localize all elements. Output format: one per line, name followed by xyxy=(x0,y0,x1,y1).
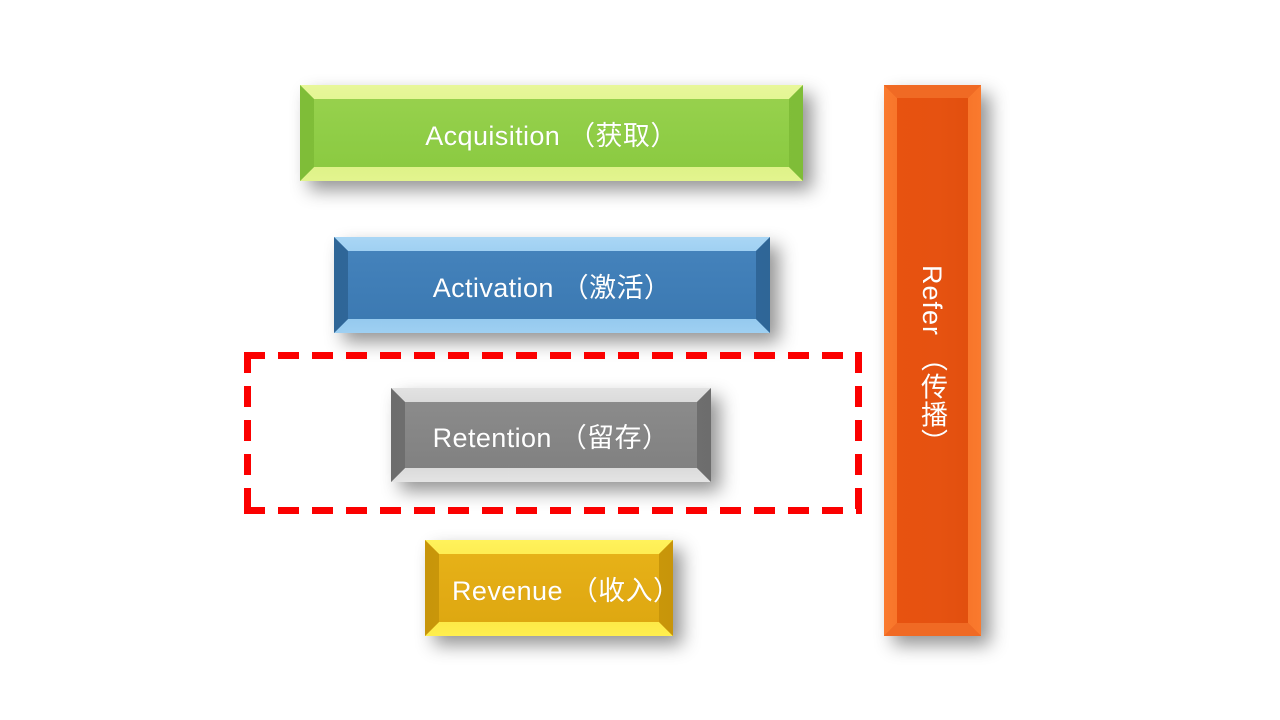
highlight-edge-right xyxy=(855,352,862,514)
stage-bar-refer[interactable]: Refer （传播） xyxy=(884,85,981,636)
stage-bar-acquisition[interactable]: Acquisition （获取） xyxy=(300,85,803,181)
stage-label-activation: Activation （激活） xyxy=(433,266,672,305)
stage-label-refer: Refer （传播） xyxy=(913,265,952,457)
stage-label-revenue: Revenue （收入） xyxy=(452,569,680,608)
stage-bar-activation[interactable]: Activation （激活） xyxy=(334,237,770,333)
stage-bar-revenue[interactable]: Revenue （收入） xyxy=(425,540,673,636)
stage-bar-retention[interactable]: Retention （留存） xyxy=(391,388,711,482)
highlight-edge-left xyxy=(244,352,251,514)
stage-label-retention: Retention （留存） xyxy=(433,416,670,455)
slide-canvas: Acquisition （获取） Activation （激活） Retenti… xyxy=(0,0,1280,720)
highlight-edge-top xyxy=(244,352,862,359)
highlight-edge-bottom xyxy=(244,507,862,514)
stage-label-acquisition: Acquisition （获取） xyxy=(425,114,677,153)
